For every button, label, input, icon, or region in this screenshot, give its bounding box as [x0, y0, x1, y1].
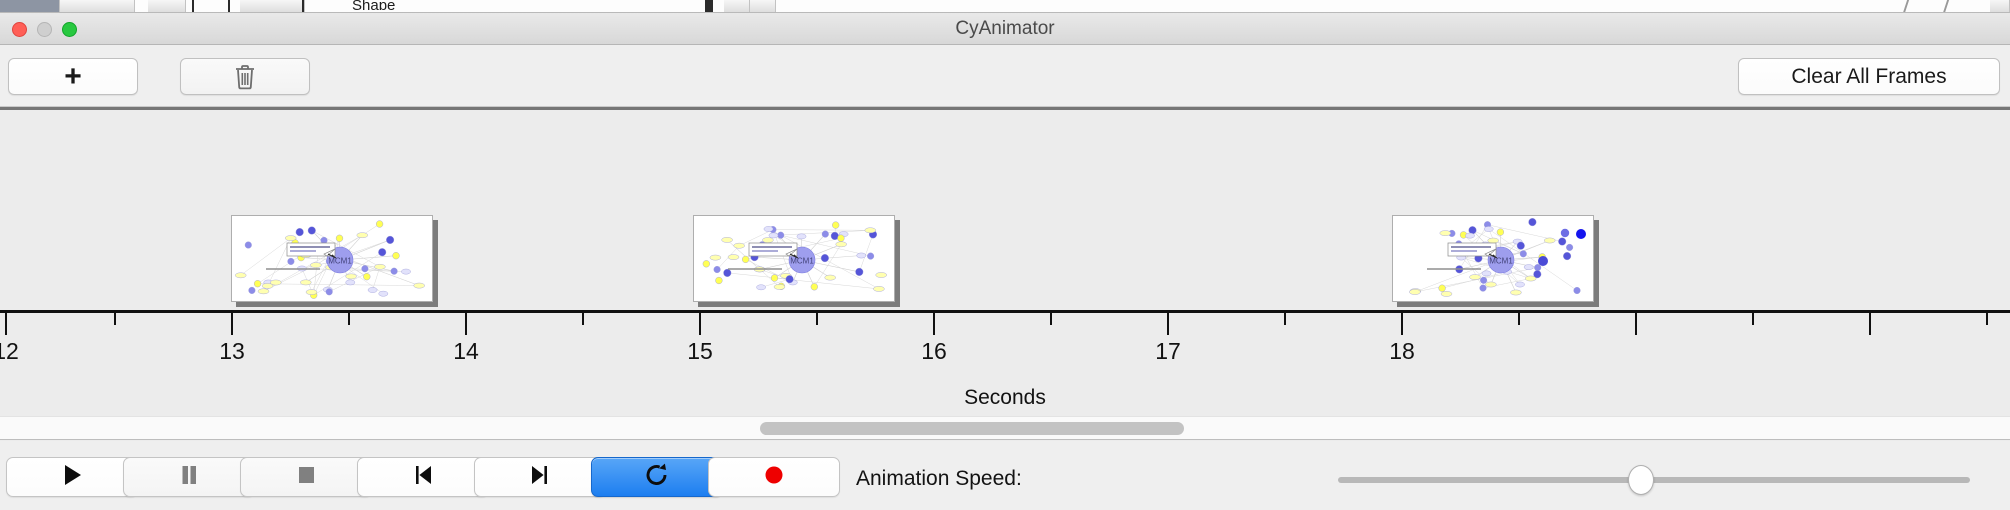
play-icon	[59, 462, 85, 493]
stop-button	[240, 457, 372, 497]
timeline-scrollbar[interactable]	[0, 416, 2010, 440]
ruler-tick-minor-3	[816, 313, 818, 325]
timeline-frame-1[interactable]: MCM1	[231, 215, 438, 307]
bg-tab-1	[60, 0, 135, 13]
cyanimator-window: Shape CyAnimator +	[0, 0, 2010, 510]
frame-thumbnail-image: MCM1	[231, 215, 433, 302]
ruler-tick-minor-2	[582, 313, 584, 325]
ruler-tick-major-1	[231, 313, 233, 335]
slider-thumb[interactable]	[1628, 465, 1654, 495]
skip-end-button[interactable]	[474, 457, 606, 497]
ruler-tick-minor-1	[348, 313, 350, 325]
bg-tab-4	[724, 0, 750, 13]
axis-title: Seconds	[0, 386, 2010, 410]
ruler-tick-minor-7	[1752, 313, 1754, 325]
playback-control-bar: Animation Speed:	[0, 441, 2010, 510]
stop-icon	[293, 462, 319, 493]
bg-tab-3	[240, 0, 305, 13]
animation-speed-label: Animation Speed:	[856, 467, 1022, 491]
ruler-label-15: 15	[687, 338, 713, 365]
bg-tab-6	[1990, 0, 2010, 13]
ruler-tick-major-0	[5, 313, 7, 335]
bg-slant-2	[1943, 0, 1961, 13]
ruler-tick-major-5	[1167, 313, 1169, 335]
timeline-scrollbar-thumb[interactable]	[760, 422, 1184, 435]
skip-end-icon	[527, 462, 553, 493]
svg-text:MCM1: MCM1	[790, 257, 814, 266]
loop-button[interactable]	[591, 457, 723, 497]
ruler-tick-major-3	[699, 313, 701, 335]
ruler-label-17: 17	[1155, 338, 1181, 365]
bg-slant-1	[1903, 0, 1921, 13]
ruler-tick-major-8	[1869, 313, 1871, 335]
bg-mark-1	[192, 0, 194, 13]
ruler-axis-line	[0, 310, 2010, 313]
record-button[interactable]	[708, 457, 840, 497]
ruler-tick-major-7	[1635, 313, 1637, 335]
ruler-tick-minor-8	[1986, 313, 1988, 325]
bg-mark-3	[302, 0, 304, 13]
svg-text:MCM1: MCM1	[1489, 257, 1513, 266]
play-button[interactable]	[6, 457, 138, 497]
window-title: CyAnimator	[0, 13, 2010, 45]
record-icon	[761, 462, 787, 493]
ruler-label-13: 13	[219, 338, 245, 365]
toolbar: + Clear All Frames	[0, 45, 2010, 107]
trash-icon	[234, 64, 256, 90]
skip-start-button[interactable]	[357, 457, 489, 497]
ruler-tick-minor-5	[1284, 313, 1286, 325]
bg-mark-4	[705, 0, 713, 13]
timeline-frame-2[interactable]: MCM1	[693, 215, 900, 307]
ruler-label-16: 16	[921, 338, 947, 365]
add-frame-button[interactable]: +	[8, 58, 138, 95]
frame-thumbnail-image: MCM1	[693, 215, 895, 302]
title-bar: CyAnimator	[0, 13, 2010, 45]
clear-all-frames-label: Clear All Frames	[1791, 65, 1946, 89]
bg-window-label: Shape	[352, 0, 395, 10]
clear-all-frames-button[interactable]: Clear All Frames	[1738, 58, 2000, 95]
timeline-frame-3[interactable]: MCM1	[1392, 215, 1599, 307]
bg-mark-2	[228, 0, 230, 13]
ruler-tick-minor-6	[1518, 313, 1520, 325]
timeline-panel: MCM1MCM1MCM1 12131415161718 Seconds	[0, 110, 2010, 416]
svg-text:MCM1: MCM1	[328, 257, 352, 266]
loop-icon	[644, 462, 670, 493]
plus-icon: +	[64, 62, 82, 92]
delete-frame-button[interactable]	[180, 58, 310, 95]
animation-speed-slider[interactable]	[1338, 477, 1970, 483]
ruler-label-12: 12	[0, 338, 19, 365]
ruler-tick-major-4	[933, 313, 935, 335]
bg-tab-5	[750, 0, 776, 13]
ruler-tick-minor-0	[114, 313, 116, 325]
ruler-tick-major-6	[1401, 313, 1403, 335]
ruler-label-18: 18	[1389, 338, 1415, 365]
pause-button	[123, 457, 255, 497]
ruler-tick-major-2	[465, 313, 467, 335]
pause-icon	[176, 462, 202, 493]
frame-thumbnail-image: MCM1	[1392, 215, 1594, 302]
skip-start-icon	[410, 462, 436, 493]
bg-tab-dark	[0, 0, 60, 13]
ruler-label-14: 14	[453, 338, 479, 365]
background-window-strip: Shape	[0, 0, 2010, 13]
bg-tab-2	[148, 0, 186, 13]
ruler-tick-minor-4	[1050, 313, 1052, 325]
